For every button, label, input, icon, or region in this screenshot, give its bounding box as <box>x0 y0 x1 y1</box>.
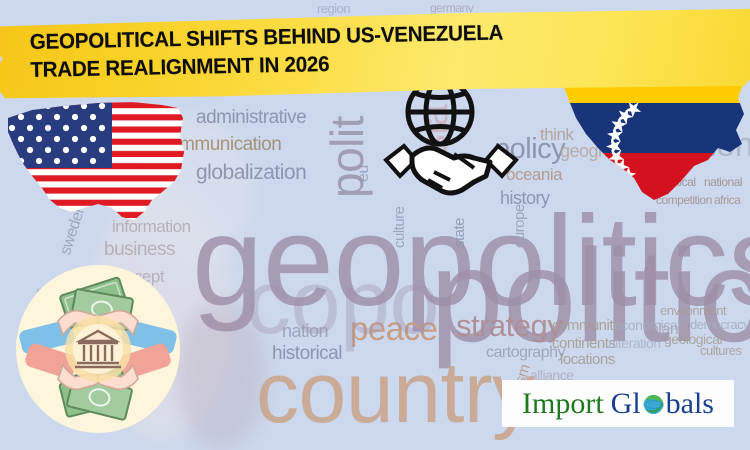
word-cloud-term: economical <box>614 318 680 332</box>
word-cloud-term: culture <box>392 206 407 248</box>
united-states-flag-map <box>2 96 192 224</box>
word-cloud-term: cultures <box>700 344 742 357</box>
logo-text-bals: bals <box>666 389 714 419</box>
page-title: GEOPOLITICAL SHIFTS BEHIND US-VENEZUELA … <box>29 16 630 85</box>
word-cloud-term: country <box>256 350 535 436</box>
word-cloud-term: globalization <box>196 162 306 183</box>
word-cloud-term: alliance <box>530 368 573 382</box>
word-cloud-term: locations <box>560 352 615 367</box>
infographic-banner: regiongermanyusadministrativecommunicati… <box>0 0 750 450</box>
word-cloud-term: region <box>317 2 350 15</box>
word-cloud-term: polit <box>324 116 370 198</box>
word-cloud-term: alteration <box>608 336 661 350</box>
word-cloud-term: germany <box>430 2 473 14</box>
logo-text-gl: Gl <box>611 389 641 419</box>
word-cloud-term: strategy <box>456 310 562 341</box>
word-cloud-term: community <box>552 318 620 333</box>
money-hands-bank-illustration <box>14 263 182 435</box>
logo-text-import: Import <box>522 389 604 419</box>
globe-handshake-icon-group <box>378 76 523 201</box>
word-cloud-term: copo <box>246 258 439 348</box>
word-cloud-term: democracy <box>690 318 749 331</box>
handshake-icon <box>386 146 516 193</box>
import-globals-logo[interactable]: ImportGl bals <box>503 381 733 426</box>
word-cloud-term: administrative <box>196 108 306 127</box>
word-cloud-term: environment <box>660 304 726 317</box>
word-cloud-term: continents <box>552 336 615 351</box>
word-cloud-term: business <box>104 240 175 259</box>
globe-icon <box>642 392 665 415</box>
